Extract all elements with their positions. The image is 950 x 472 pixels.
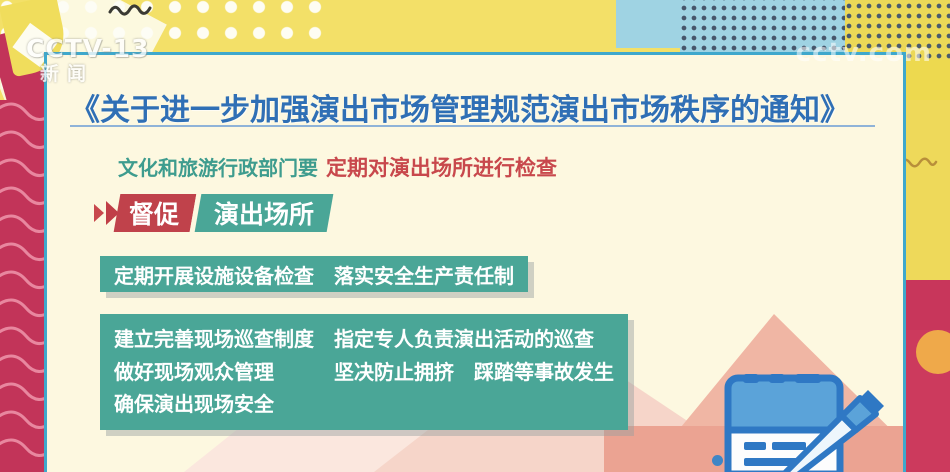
action-banner-row: 督促 演出场所	[94, 194, 330, 232]
requirement-line-1: 建立完善现场巡查制度 指定专人负责演出活动的巡查	[114, 323, 594, 355]
subtitle-lead: 文化和旅游行政部门要	[118, 156, 318, 180]
requirement-bar-secondary: 建立完善现场巡查制度 指定专人负责演出活动的巡查 做好现场观众管理 坚决防止拥挤…	[100, 314, 628, 430]
subtitle: 文化和旅游行政部门要定期对演出场所进行检查	[118, 152, 557, 182]
title-underline	[70, 125, 875, 127]
chevron-right-icon-small	[94, 204, 104, 222]
requirement-bar-primary-text: 定期开展设施设备检查 落实安全生产责任制	[114, 260, 514, 289]
wave-pattern-icon	[0, 100, 44, 472]
background-crimson-left-strip	[0, 100, 44, 472]
page-title: 《关于进一步加强演出市场管理规范演出市场秩序的通知》	[70, 85, 850, 129]
action-banner-label: 督促	[129, 195, 179, 231]
broadcast-screenshot: 《关于进一步加强演出市场管理规范演出市场秩序的通知》 文化和旅游行政部门要定期对…	[0, 0, 950, 472]
target-banner-label: 演出场所	[214, 195, 314, 231]
subtitle-emphasis: 定期对演出场所进行检查	[326, 156, 557, 180]
requirement-bar-primary: 定期开展设施设备检查 落实安全生产责任制	[100, 256, 528, 292]
action-banner: 督促	[114, 194, 197, 232]
requirement-line-3: 确保演出现场安全	[114, 388, 274, 420]
squiggle-icon	[108, 2, 152, 18]
target-banner: 演出场所	[195, 194, 334, 232]
requirement-line-2: 做好现场观众管理 坚决防止拥挤 踩踏等事故发生	[114, 356, 614, 388]
document-with-pen-icon	[716, 368, 916, 472]
